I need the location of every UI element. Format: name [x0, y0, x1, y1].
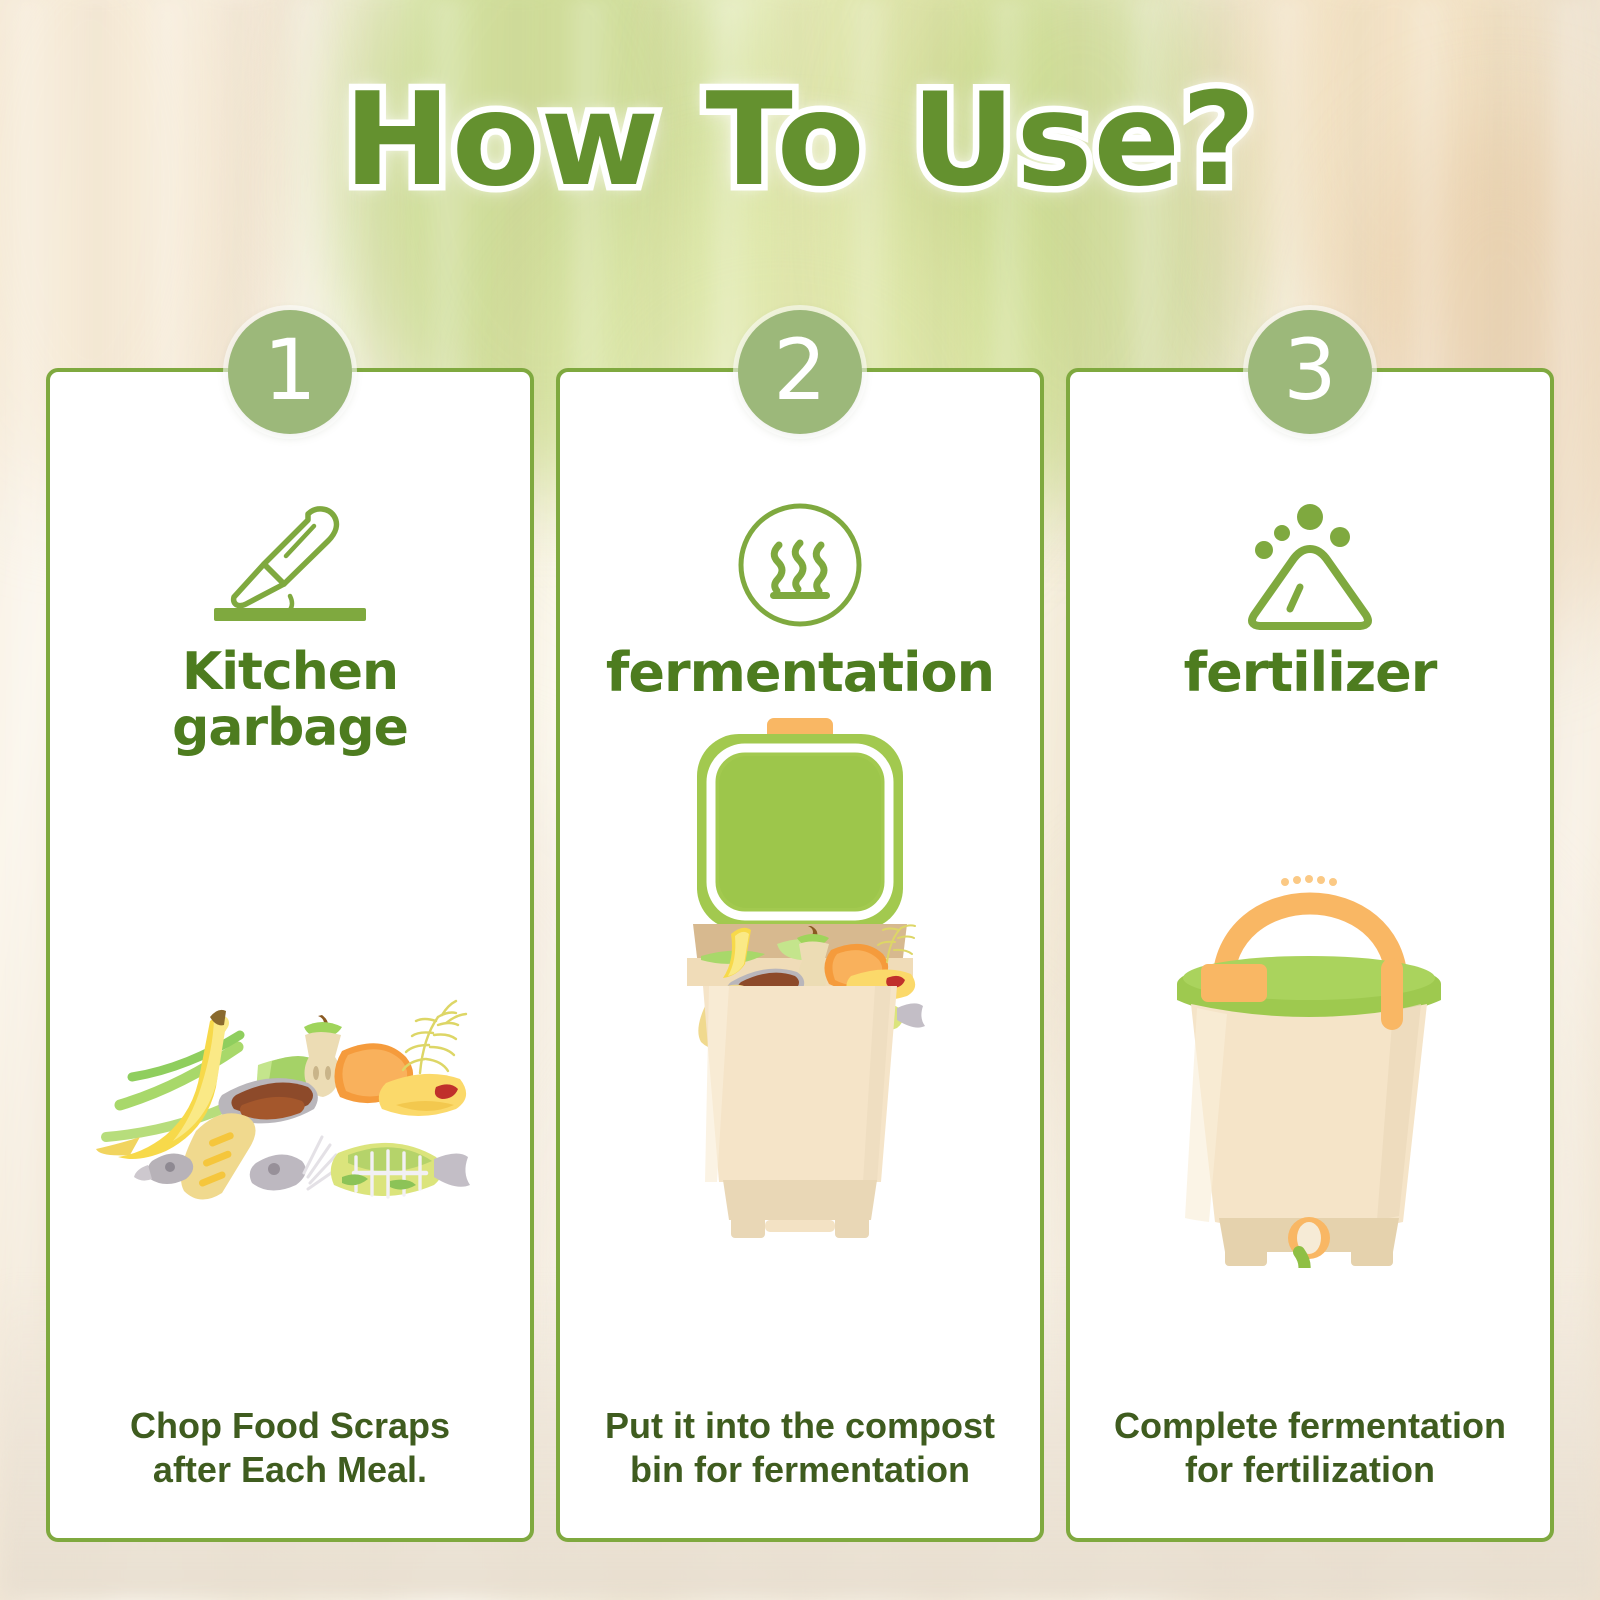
step-number-1: 1: [263, 328, 316, 412]
compost-bucket-illustration: [1070, 702, 1550, 1404]
step-card-3: 3 fertilizer: [1066, 368, 1554, 1542]
step-caption-1: Chop Food Scraps after Each Meal.: [116, 1404, 464, 1538]
step-caption-2: Put it into the compost bin for fermenta…: [591, 1404, 1009, 1538]
step-card-1: 1 Kitchen garbage: [46, 368, 534, 1542]
step-caption-3: Complete fermentation for fertilization: [1100, 1404, 1520, 1538]
steam-circle-icon: [730, 500, 870, 630]
step-number-badge-1: 1: [228, 310, 352, 434]
step-heading-2: fermentation: [596, 644, 1004, 702]
step-number-badge-3: 3: [1248, 310, 1372, 434]
knife-cutting-board-icon: [190, 500, 390, 630]
page-title: How To Use?: [0, 76, 1600, 207]
step-heading-1: Kitchen garbage: [162, 644, 418, 756]
step-number-3: 3: [1283, 328, 1336, 412]
step-number-2: 2: [773, 328, 826, 412]
step-heading-3: fertilizer: [1174, 644, 1447, 702]
fertilizer-pile-icon: [1220, 500, 1400, 630]
steps-container: 1 Kitchen garbage: [46, 368, 1554, 1542]
food-scraps-pile-illustration: [50, 756, 530, 1404]
step-card-2: 2 fermentation: [556, 368, 1044, 1542]
step-number-badge-2: 2: [738, 310, 862, 434]
compost-bin-illustration: [560, 702, 1040, 1404]
